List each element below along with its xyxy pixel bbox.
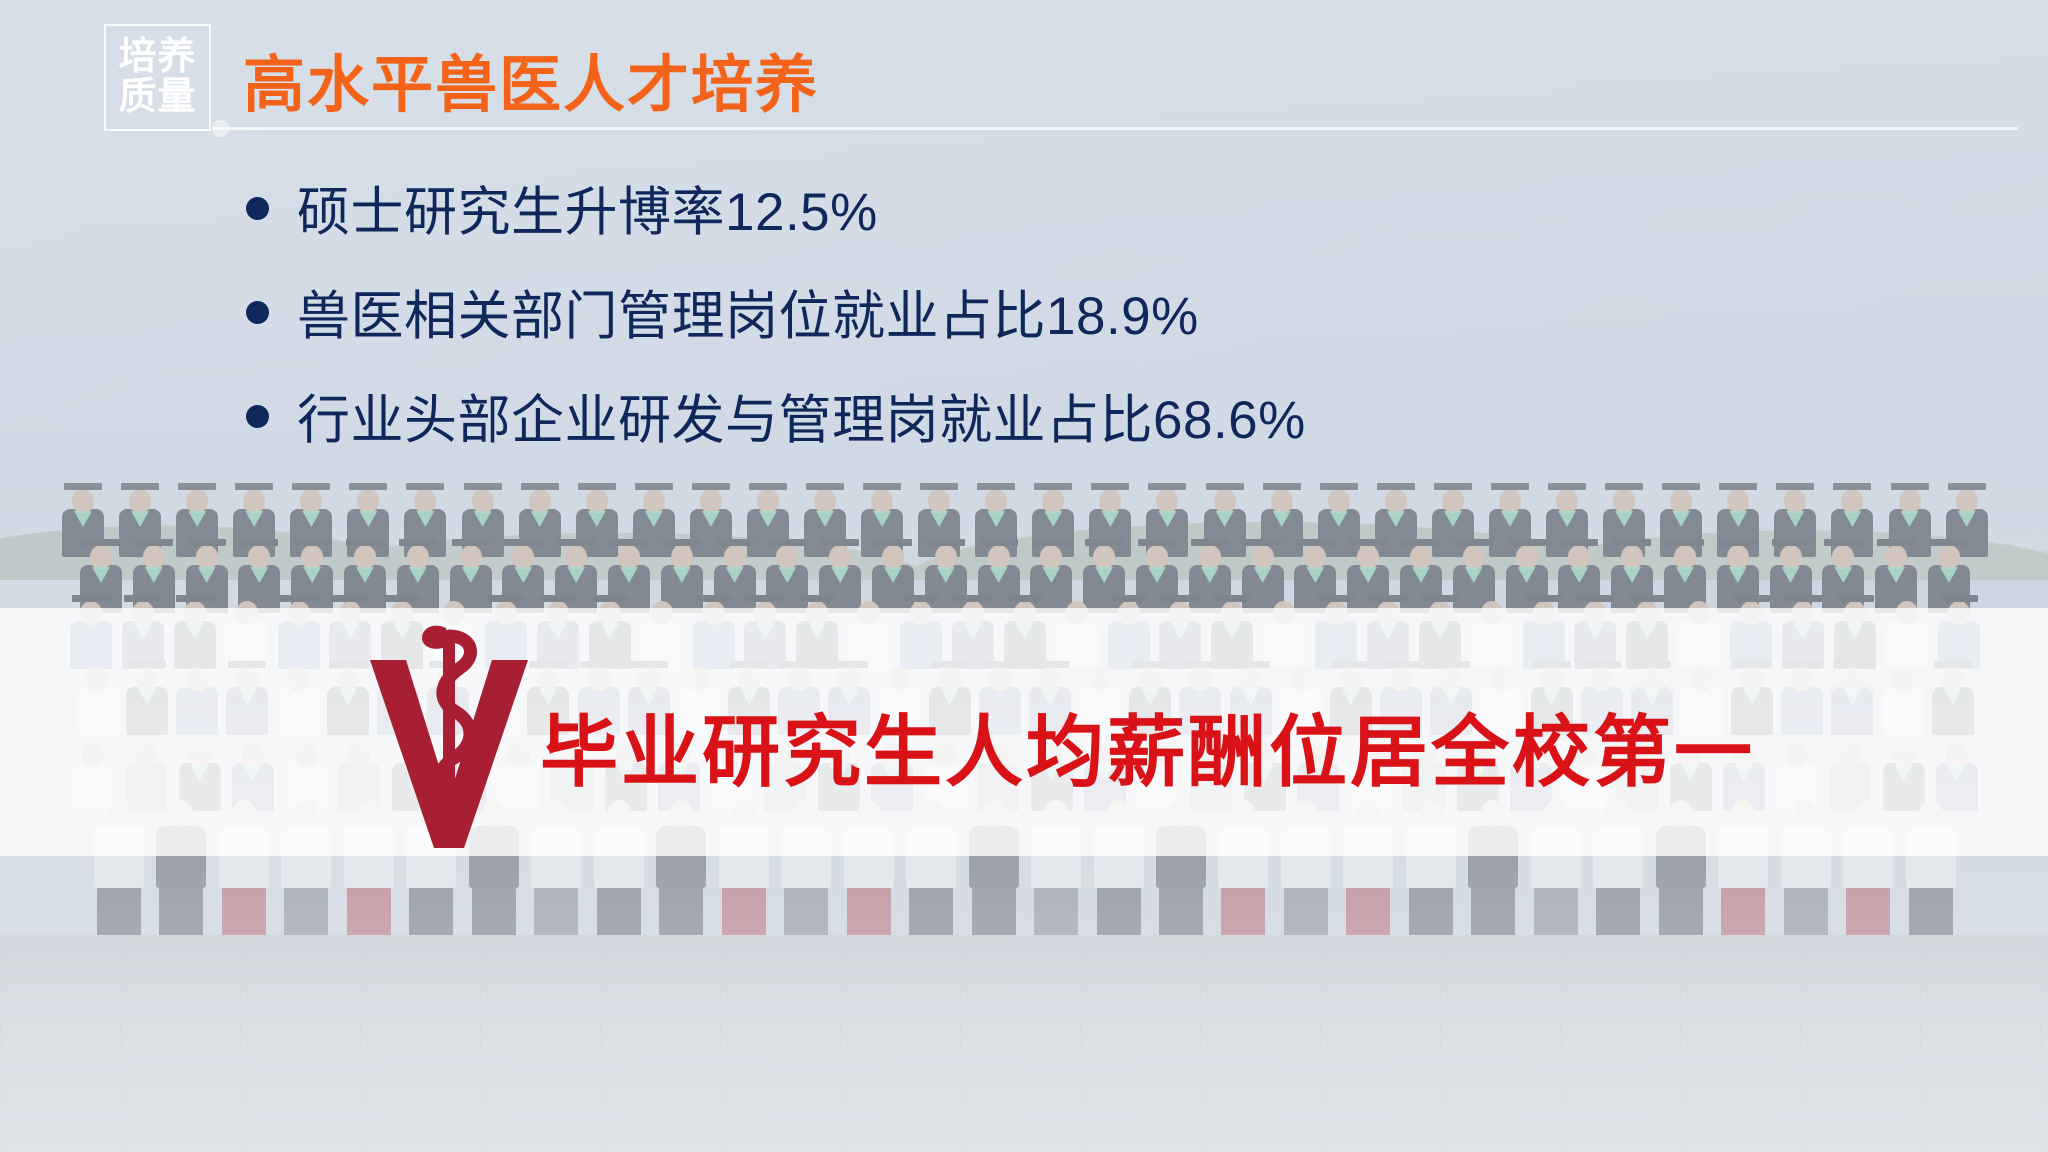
crowd-person xyxy=(500,541,546,603)
crowd-person xyxy=(1398,541,1444,603)
crowd-person xyxy=(1451,541,1497,603)
crowd-person xyxy=(916,485,962,547)
crowd-person xyxy=(1658,485,1704,547)
list-item: 硕士研究生升博率12.5% xyxy=(246,170,1306,246)
crowd-person xyxy=(184,541,230,603)
badge-line-1: 培养 xyxy=(118,38,196,78)
crowd-person xyxy=(1829,485,1875,547)
crowd-person xyxy=(1373,485,1419,547)
crowd-person xyxy=(1487,485,1533,547)
photo-plaza xyxy=(0,935,2048,1152)
crowd-person xyxy=(1240,541,1286,603)
crowd-person xyxy=(1202,485,1248,547)
page-title: 高水平兽医人才培养 xyxy=(243,34,819,124)
crowd-person xyxy=(345,485,391,547)
bullet-dot-icon xyxy=(246,301,269,324)
crowd-person xyxy=(174,485,220,547)
crowd-person xyxy=(659,541,705,603)
crowd-person xyxy=(870,541,916,603)
crowd-person xyxy=(60,485,106,547)
crowd-person xyxy=(1187,541,1233,603)
crowd-person xyxy=(1345,541,1391,603)
crowd-person xyxy=(1772,485,1818,547)
plaza-pavement-lines xyxy=(0,935,2048,1152)
crowd-person xyxy=(448,541,494,603)
crowd-person xyxy=(764,541,810,603)
crowd-person xyxy=(688,485,734,547)
crowd-person xyxy=(606,541,652,603)
crowd-person xyxy=(859,485,905,547)
section-badge: 培养 质量 xyxy=(104,24,211,131)
bullet-list: 硕士研究生升博率12.5% 兽医相关部门管理岗位就业占比18.9% 行业头部企业… xyxy=(246,170,1306,454)
crowd-person xyxy=(1316,485,1362,547)
crowd-person xyxy=(1715,541,1761,603)
crowd-person xyxy=(288,485,334,547)
crowd-person xyxy=(1887,485,1933,547)
veterinary-caduceus-logo-icon xyxy=(360,612,538,852)
crowd-person xyxy=(1134,541,1180,603)
crowd-person xyxy=(1662,541,1708,603)
crowd-person xyxy=(1601,485,1647,547)
crowd-person xyxy=(1609,541,1655,603)
badge-line-2: 质量 xyxy=(118,78,196,118)
crowd-person xyxy=(1715,485,1761,547)
crowd-row xyxy=(60,541,1990,603)
crowd-person xyxy=(574,485,620,547)
crowd-person xyxy=(553,541,599,603)
crowd-person xyxy=(117,485,163,547)
crowd-person xyxy=(923,541,969,603)
crowd-person xyxy=(236,541,282,603)
slide-root: 培养 质量 高水平兽医人才培养 硕士研究生升博率12.5% 兽医相关部门管理岗位… xyxy=(0,0,2048,1152)
list-item: 行业头部企业研发与管理岗就业占比68.6% xyxy=(246,378,1306,454)
crowd-person xyxy=(1087,485,1133,547)
crowd-person xyxy=(1820,541,1866,603)
crowd-person xyxy=(131,541,177,603)
bullet-text: 硕士研究生升博率12.5% xyxy=(297,170,878,246)
crowd-person xyxy=(1144,485,1190,547)
crowd-person xyxy=(745,485,791,547)
crowd-person xyxy=(973,485,1019,547)
crowd-person xyxy=(1944,485,1990,547)
crowd-person xyxy=(1028,541,1074,603)
banner-headline: 毕业研究生人均薪酬位居全校第一 xyxy=(540,690,1755,802)
crowd-person xyxy=(1030,485,1076,547)
crowd-person xyxy=(395,541,441,603)
bullet-text: 兽医相关部门管理岗位就业占比18.9% xyxy=(297,274,1199,350)
crowd-person xyxy=(1430,485,1476,547)
crowd-person xyxy=(402,485,448,547)
bullet-dot-icon xyxy=(246,197,269,220)
crowd-person xyxy=(817,541,863,603)
crowd-person xyxy=(517,485,563,547)
crowd-person xyxy=(1504,541,1550,603)
crowd-person xyxy=(1556,541,1602,603)
bullet-dot-icon xyxy=(246,405,269,428)
crowd-person xyxy=(1926,541,1972,603)
crowd-person xyxy=(712,541,758,603)
crowd-person xyxy=(1081,541,1127,603)
header-divider xyxy=(212,127,2018,130)
crowd-person xyxy=(631,485,677,547)
crowd-person xyxy=(78,541,124,603)
list-item: 兽医相关部门管理岗位就业占比18.9% xyxy=(246,274,1306,350)
crowd-person xyxy=(976,541,1022,603)
crowd-row xyxy=(60,485,1990,547)
crowd-person xyxy=(231,485,277,547)
crowd-person xyxy=(1768,541,1814,603)
crowd-person xyxy=(460,485,506,547)
crowd-person xyxy=(289,541,335,603)
crowd-person xyxy=(1292,541,1338,603)
crowd-person xyxy=(1544,485,1590,547)
bullet-text: 行业头部企业研发与管理岗就业占比68.6% xyxy=(297,378,1306,454)
crowd-person xyxy=(1873,541,1919,603)
crowd-person xyxy=(1259,485,1305,547)
crowd-person xyxy=(802,485,848,547)
crowd-person xyxy=(342,541,388,603)
